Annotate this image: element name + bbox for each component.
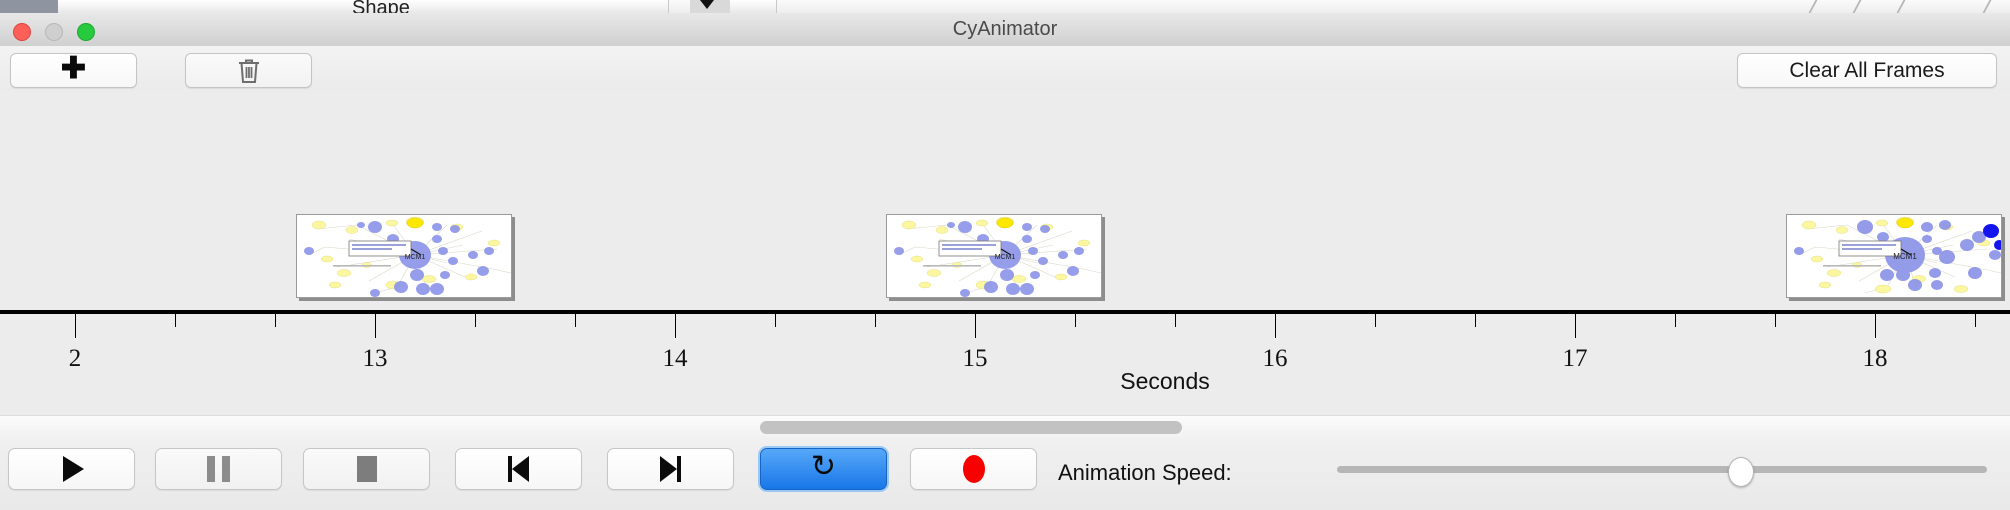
stop-icon [357,456,377,482]
axis-tick-major [975,314,976,338]
cyanimator-window: Shape CyAnimator ✚ Clear All Fram [0,0,2010,510]
background-segment [368,0,669,13]
trash-icon [236,57,262,85]
timeline-axis-line [0,310,2010,314]
loop-toggle-button[interactable]: ↻ [760,448,887,490]
animation-speed-slider[interactable] [1337,466,1987,473]
axis-tick-label: 2 [69,345,82,373]
title-bar: CyAnimator [0,13,2010,47]
timeline-scrollbar[interactable] [0,415,2010,439]
axis-tick-label: 15 [963,345,988,373]
add-frame-button[interactable]: ✚ [10,53,137,88]
record-icon [963,455,985,483]
axis-tick-major [375,314,376,338]
network-preview-a: MCM1 [297,215,511,297]
background-segment [140,0,193,13]
axis-tick-minor [575,314,576,327]
pause-button[interactable] [155,448,282,490]
svg-text:MCM1: MCM1 [1893,252,1917,261]
background-segment [58,0,141,13]
axis-tick-major [1875,314,1876,338]
window-title: CyAnimator [0,13,2010,46]
axis-tick-major [75,314,76,338]
axis-tick-minor [1975,314,1976,327]
play-button[interactable] [8,448,135,490]
frame-thumbnail[interactable]: MCM1 [296,214,512,298]
background-divider [1897,0,1920,13]
delete-frame-button[interactable] [185,53,312,88]
stop-button[interactable] [303,448,430,490]
next-frame-button[interactable] [607,448,734,490]
clear-all-frames-button[interactable]: Clear All Frames [1737,53,1997,88]
record-button[interactable] [910,448,1037,490]
animation-speed-label: Animation Speed: [1058,460,1232,486]
axis-tick-minor [1175,314,1176,327]
background-divider [1853,0,1876,13]
background-divider [1983,0,2006,13]
timeline-panel[interactable]: MCM1 [0,90,2010,415]
background-segment [730,0,777,13]
plus-icon: ✚ [61,54,86,84]
frame-thumbnail[interactable]: MCM1 [1786,214,2002,298]
pause-icon [207,456,230,482]
axis-tick-label: 16 [1263,345,1288,373]
skip-next-icon [660,456,681,482]
axis-tick-major [1575,314,1576,338]
timeline-canvas[interactable]: MCM1 [0,90,2010,415]
axis-tick-minor [1375,314,1376,327]
previous-frame-button[interactable] [455,448,582,490]
axis-tick-major [675,314,676,338]
axis-tick-label: 17 [1563,345,1588,373]
scrollbar-thumb[interactable] [760,421,1182,434]
axis-tick-minor [1075,314,1076,327]
background-segment [192,0,239,13]
play-icon [63,456,84,482]
svg-text:MCM1: MCM1 [405,254,426,261]
axis-tick-minor [1475,314,1476,327]
skip-previous-icon [508,456,529,482]
background-tab-active [0,0,58,13]
axis-tick-minor [1675,314,1676,327]
axis-tick-minor [475,314,476,327]
svg-text:MCM1: MCM1 [995,254,1016,261]
axis-tick-minor [1775,314,1776,327]
background-caret-icon [700,0,714,9]
background-segment [238,0,301,13]
axis-tick-minor [875,314,876,327]
playback-control-bar: ↻ Animation Speed: [0,438,2010,510]
axis-tick-minor [775,314,776,327]
background-divider [1809,0,1832,13]
loop-icon: ↻ [811,452,836,482]
frame-thumbnail[interactable]: MCM1 [886,214,1102,298]
axis-tick-label: 13 [363,345,388,373]
frame-toolbar: ✚ Clear All Frames [0,46,2010,91]
axis-tick-label: 18 [1863,345,1888,373]
network-preview-a: MCM1 [887,215,1101,297]
axis-tick-minor [275,314,276,327]
background-window-strip: Shape [0,0,2010,13]
background-window-label: Shape [352,0,410,13]
animation-speed-slider-thumb[interactable] [1728,457,1754,487]
axis-title: Seconds [1120,368,1210,395]
axis-tick-label: 14 [663,345,688,373]
clear-all-frames-label: Clear All Frames [1789,59,1944,83]
network-preview-b: MCM1 [1787,215,2001,297]
axis-tick-major [1275,314,1276,338]
axis-tick-minor [175,314,176,327]
